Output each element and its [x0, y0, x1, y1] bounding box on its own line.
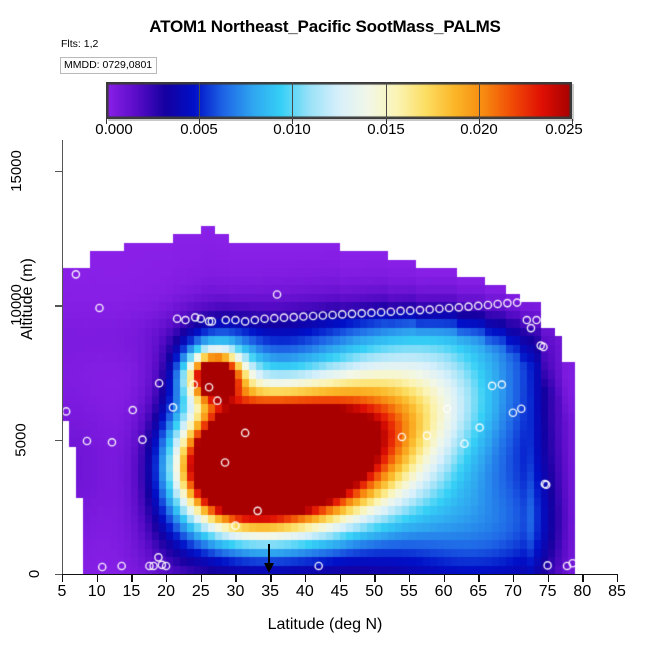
flights-label: Flts: 1,2	[61, 38, 98, 50]
x-axis-tick	[478, 574, 479, 582]
x-axis-tick	[340, 574, 341, 582]
colorbar-tick-label: 0.000	[95, 121, 133, 138]
x-axis-tick	[409, 574, 410, 582]
dates-label: MMDD: 0729,0801	[60, 57, 157, 74]
x-axis-tick	[166, 574, 167, 582]
y-axis-title: Altitude (m)	[19, 219, 37, 379]
x-axis-tick-label: 15	[122, 583, 140, 601]
x-axis-title: Latitude (deg N)	[0, 616, 650, 634]
x-axis-tick	[374, 574, 375, 582]
y-axis-tick-label: 5000	[13, 415, 30, 465]
y-axis-tick	[55, 171, 63, 172]
y-axis-tick-label: 0	[26, 563, 43, 586]
colorbar-gradient	[106, 82, 572, 119]
x-axis-tick-label: 10	[88, 583, 106, 601]
latitude-arrow-marker	[262, 544, 276, 574]
x-axis-tick	[513, 574, 514, 582]
x-axis-tick-label: 40	[296, 583, 314, 601]
x-axis-tick-label: 55	[400, 583, 418, 601]
x-axis-tick	[305, 574, 306, 582]
colorbar-tick	[199, 82, 200, 119]
colorbar-tick-label: 0.010	[273, 121, 311, 138]
plot-frame	[62, 140, 618, 575]
x-axis-tick-label: 85	[608, 583, 626, 601]
y-axis-tick	[55, 305, 63, 306]
colorbar-tick-label: 0.005	[180, 121, 218, 138]
page-title: ATOM1 Northeast_Pacific SootMass_PALMS	[0, 17, 650, 37]
x-axis-tick	[235, 574, 236, 582]
x-axis-tick-label: 70	[504, 583, 522, 601]
x-axis-tick-label: 20	[157, 583, 175, 601]
x-axis-tick-label: 75	[539, 583, 557, 601]
colorbar[interactable]	[106, 82, 572, 119]
colorbar-tick-label: 0.020	[460, 121, 498, 138]
x-axis-tick	[201, 574, 202, 582]
colorbar-tick	[479, 82, 480, 119]
x-axis-tick-label: 30	[227, 583, 245, 601]
x-axis-tick	[582, 574, 583, 582]
y-axis-tick	[55, 440, 63, 441]
x-axis-tick-label: 60	[435, 583, 453, 601]
x-axis-tick	[270, 574, 271, 582]
x-axis-tick-label: 45	[331, 583, 349, 601]
x-axis-tick	[548, 574, 549, 582]
x-axis-tick-label: 5	[58, 583, 67, 601]
y-axis-tick-label: 15000	[8, 141, 25, 200]
colorbar-tick	[292, 82, 293, 119]
x-axis-tick	[444, 574, 445, 582]
x-axis-tick-label: 80	[573, 583, 591, 601]
x-axis-tick	[97, 574, 98, 582]
x-axis-tick-label: 50	[365, 583, 383, 601]
x-axis-tick	[62, 574, 63, 582]
x-axis-tick	[617, 574, 618, 582]
x-axis-tick	[131, 574, 132, 582]
x-axis-tick-label: 65	[469, 583, 487, 601]
arrow-head-icon	[264, 563, 274, 573]
x-axis-tick-label: 35	[261, 583, 279, 601]
x-axis-tick-label: 25	[192, 583, 210, 601]
colorbar-tick-label: 0.025	[545, 121, 583, 138]
colorbar-tick-label: 0.015	[367, 121, 405, 138]
colorbar-tick	[386, 82, 387, 119]
